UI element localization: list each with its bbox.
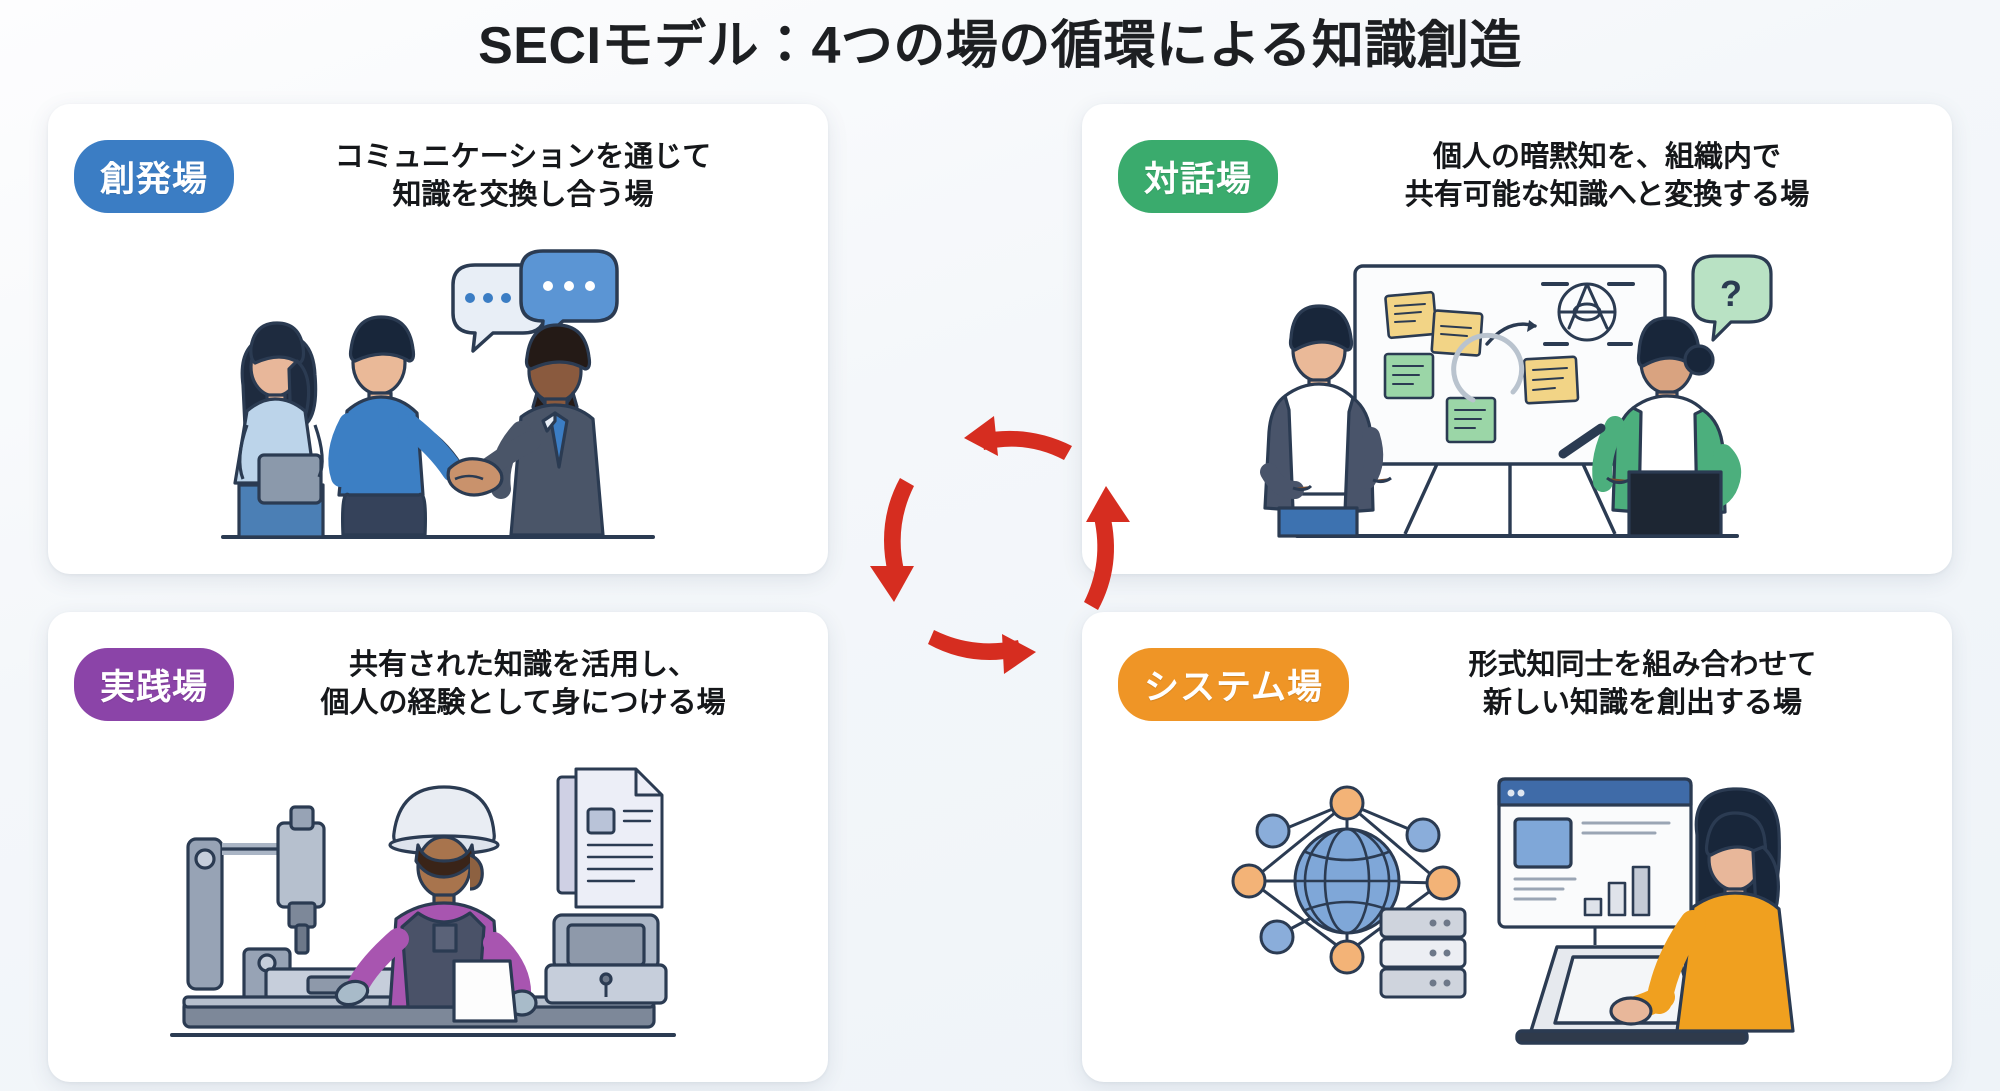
badge-externalization: 対話場 [1118,140,1278,213]
card-socialization[interactable]: 創発場 コミュニケーションを通じて 知識を交換し合う場 [48,104,828,574]
card-header: 実践場 共有された知識を活用し、 個人の経験として身につける場 [48,612,828,723]
card-externalization[interactable]: 対話場 個人の暗黙知を、組織内で 共有可能な知識へと変換する場 [1082,104,1952,574]
illustration-whiteboard-discussion: ? [1082,232,1952,568]
page-title: SECIモデル：4つの場の循環による知識創造 [0,18,2000,75]
card-header: システム場 形式知同士を組み合わせて 新しい知識を創出する場 [1082,612,1952,723]
seci-grid: 創発場 コミュニケーションを通じて 知識を交換し合う場 [0,104,2000,1091]
description-combination: 形式知同士を組み合わせて 新しい知識を創出する場 [1367,646,1926,723]
illustration-three-people-handshake [48,232,828,568]
badge-combination: システム場 [1118,648,1349,721]
description-socialization: コミュニケーションを通じて 知識を交換し合う場 [252,138,802,215]
illustration-worker-cnc-machine [48,740,828,1076]
svg-text:?: ? [1720,273,1742,314]
description-internalization: 共有された知識を活用し、 個人の経験として身につける場 [252,646,802,723]
description-externalization: 個人の暗黙知を、組織内で 共有可能な知識へと変換する場 [1296,138,1926,215]
card-internalization[interactable]: 実践場 共有された知識を活用し、 個人の経験として身につける場 [48,612,828,1082]
card-header: 対話場 個人の暗黙知を、組織内で 共有可能な知識へと変換する場 [1082,104,1952,215]
card-header: 創発場 コミュニケーションを通じて 知識を交換し合う場 [48,104,828,215]
title-bar: SECIモデル：4つの場の循環による知識創造 [0,0,2000,92]
illustration-network-dashboard-laptop [1082,740,1952,1076]
card-combination[interactable]: システム場 形式知同士を組み合わせて 新しい知識を創出する場 [1082,612,1952,1082]
badge-internalization: 実践場 [74,648,234,721]
badge-socialization: 創発場 [74,140,234,213]
